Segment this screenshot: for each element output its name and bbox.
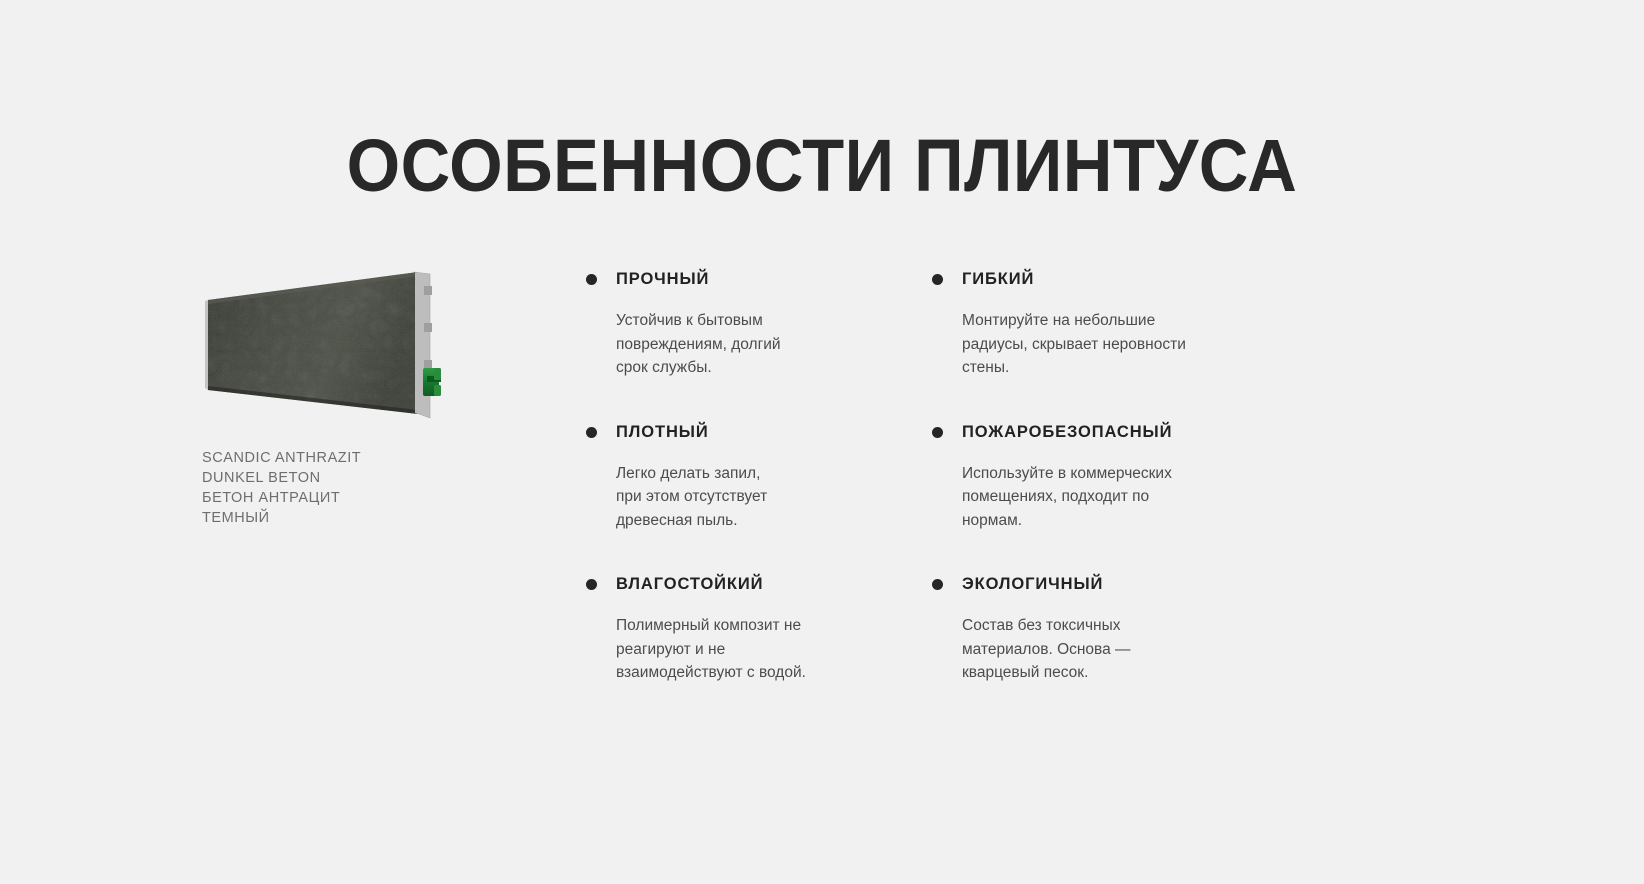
feature-title: ВЛАГОСТОЙКИЙ [616, 573, 916, 595]
mounting-clip [423, 368, 441, 396]
desc-line: взаимодействуют с водой. [616, 661, 856, 685]
feature-title: ПРОЧНЫЙ [616, 268, 916, 290]
desc-line: реагируют и не [616, 638, 856, 662]
desc-line: Легко делать запил, [616, 462, 856, 486]
caption-line-4: ТЕМНЫЙ [202, 508, 361, 528]
feature-durable: ПРОЧНЫЙ Устойчив к бытовым повреждениям,… [586, 268, 916, 380]
desc-line: Устойчив к бытовым [616, 309, 856, 333]
desc-line: Монтируйте на небольшие [962, 309, 1202, 333]
feature-title: ГИБКИЙ [962, 268, 1262, 290]
feature-title: ЭКОЛОГИЧНЫЙ [962, 573, 1262, 595]
feature-eco: ЭКОЛОГИЧНЫЙ Состав без токсичных материа… [932, 573, 1262, 685]
feature-description: Легко делать запил, при этом отсутствует… [616, 462, 856, 533]
caption-line-1: SCANDIC ANTHRAZIT [202, 448, 361, 468]
page-title: ОСОБЕННОСТИ ПЛИНТУСА [58, 124, 1587, 208]
feature-moisture-resistant: ВЛАГОСТОЙКИЙ Полимерный композит не реаг… [586, 573, 916, 685]
desc-line: материалов. Основа — [962, 638, 1202, 662]
desc-line: Используйте в коммерческих [962, 462, 1202, 486]
desc-line: повреждениям, долгий [616, 333, 856, 357]
desc-line: кварцевый песок. [962, 661, 1202, 685]
desc-line: стены. [962, 356, 1202, 380]
desc-line: нормам. [962, 509, 1202, 533]
desc-line: древесная пыль. [616, 509, 856, 533]
feature-flexible: ГИБКИЙ Монтируйте на небольшие радиусы, … [932, 268, 1262, 380]
desc-line: при этом отсутствует [616, 485, 856, 509]
bullet-icon [586, 427, 597, 438]
product-block: SCANDIC ANTHRAZIT DUNKEL BETON БЕТОН АНТ… [202, 268, 532, 428]
feature-fire-safe: ПОЖАРОБЕЗОПАСНЫЙ Используйте в коммерчес… [932, 421, 1262, 533]
feature-description: Монтируйте на небольшие радиусы, скрывае… [962, 309, 1202, 380]
caption-line-2: DUNKEL BETON [202, 468, 361, 488]
bullet-icon [586, 274, 597, 285]
feature-title: ПЛОТНЫЙ [616, 421, 916, 443]
product-caption: SCANDIC ANTHRAZIT DUNKEL BETON БЕТОН АНТ… [202, 448, 361, 528]
desc-line: срок службы. [616, 356, 856, 380]
desc-line: Состав без токсичных [962, 614, 1202, 638]
desc-line: помещениях, подходит по [962, 485, 1202, 509]
bullet-icon [586, 579, 597, 590]
caption-line-3: БЕТОН АНТРАЦИТ [202, 488, 361, 508]
bullet-icon [932, 274, 943, 285]
feature-description: Устойчив к бытовым повреждениям, долгий … [616, 309, 856, 380]
desc-line: радиусы, скрывает неровности [962, 333, 1202, 357]
bullet-icon [932, 427, 943, 438]
feature-description: Состав без токсичных материалов. Основа … [962, 614, 1202, 685]
feature-page: ОСОБЕННОСТИ ПЛИНТУСА [0, 0, 1644, 884]
feature-title: ПОЖАРОБЕЗОПАСНЫЙ [962, 421, 1262, 443]
feature-description: Полимерный композит не реагируют и не вз… [616, 614, 856, 685]
bullet-icon [932, 579, 943, 590]
skirting-board-image [202, 268, 452, 428]
skirting-board-render [202, 268, 452, 428]
feature-dense: ПЛОТНЫЙ Легко делать запил, при этом отс… [586, 421, 916, 533]
desc-line: Полимерный композит не [616, 614, 856, 638]
features-grid: ПРОЧНЫЙ Устойчив к бытовым повреждениям,… [586, 268, 1286, 685]
feature-description: Используйте в коммерческих помещениях, п… [962, 462, 1202, 533]
